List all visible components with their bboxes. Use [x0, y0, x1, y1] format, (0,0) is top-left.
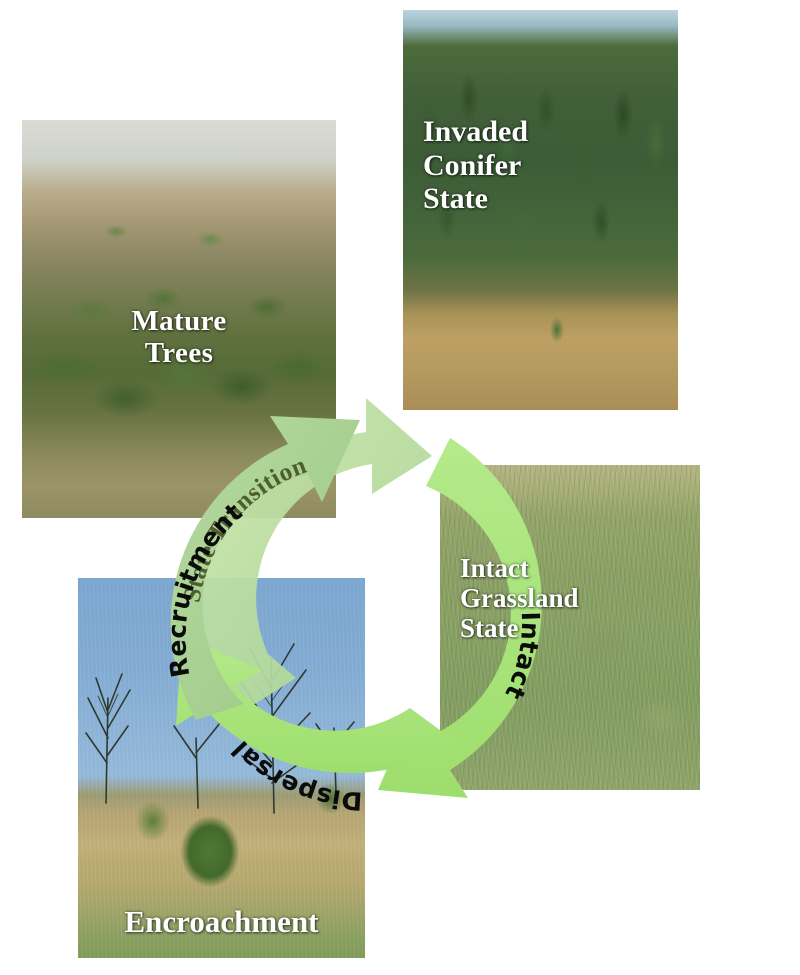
photo-caption-invaded-conifer: Invaded Conifer State: [423, 115, 528, 216]
photo-mature-trees: Mature Trees: [22, 120, 336, 518]
figure-canvas: Mature Trees Invaded Conifer State Intac…: [0, 0, 800, 975]
photo-caption-encroachment: Encroachment: [78, 905, 365, 940]
photo-intact-grassland: Intact Grassland State: [440, 465, 700, 790]
photo-encroachment: Encroachment: [78, 578, 365, 958]
photo-caption-intact-grassland: Intact Grassland State: [460, 553, 579, 644]
photo-caption-mature-trees: Mature Trees: [22, 305, 336, 370]
photo-invaded-conifer: Invaded Conifer State: [403, 10, 678, 410]
bare-tree-silhouette-icon: [78, 578, 365, 958]
